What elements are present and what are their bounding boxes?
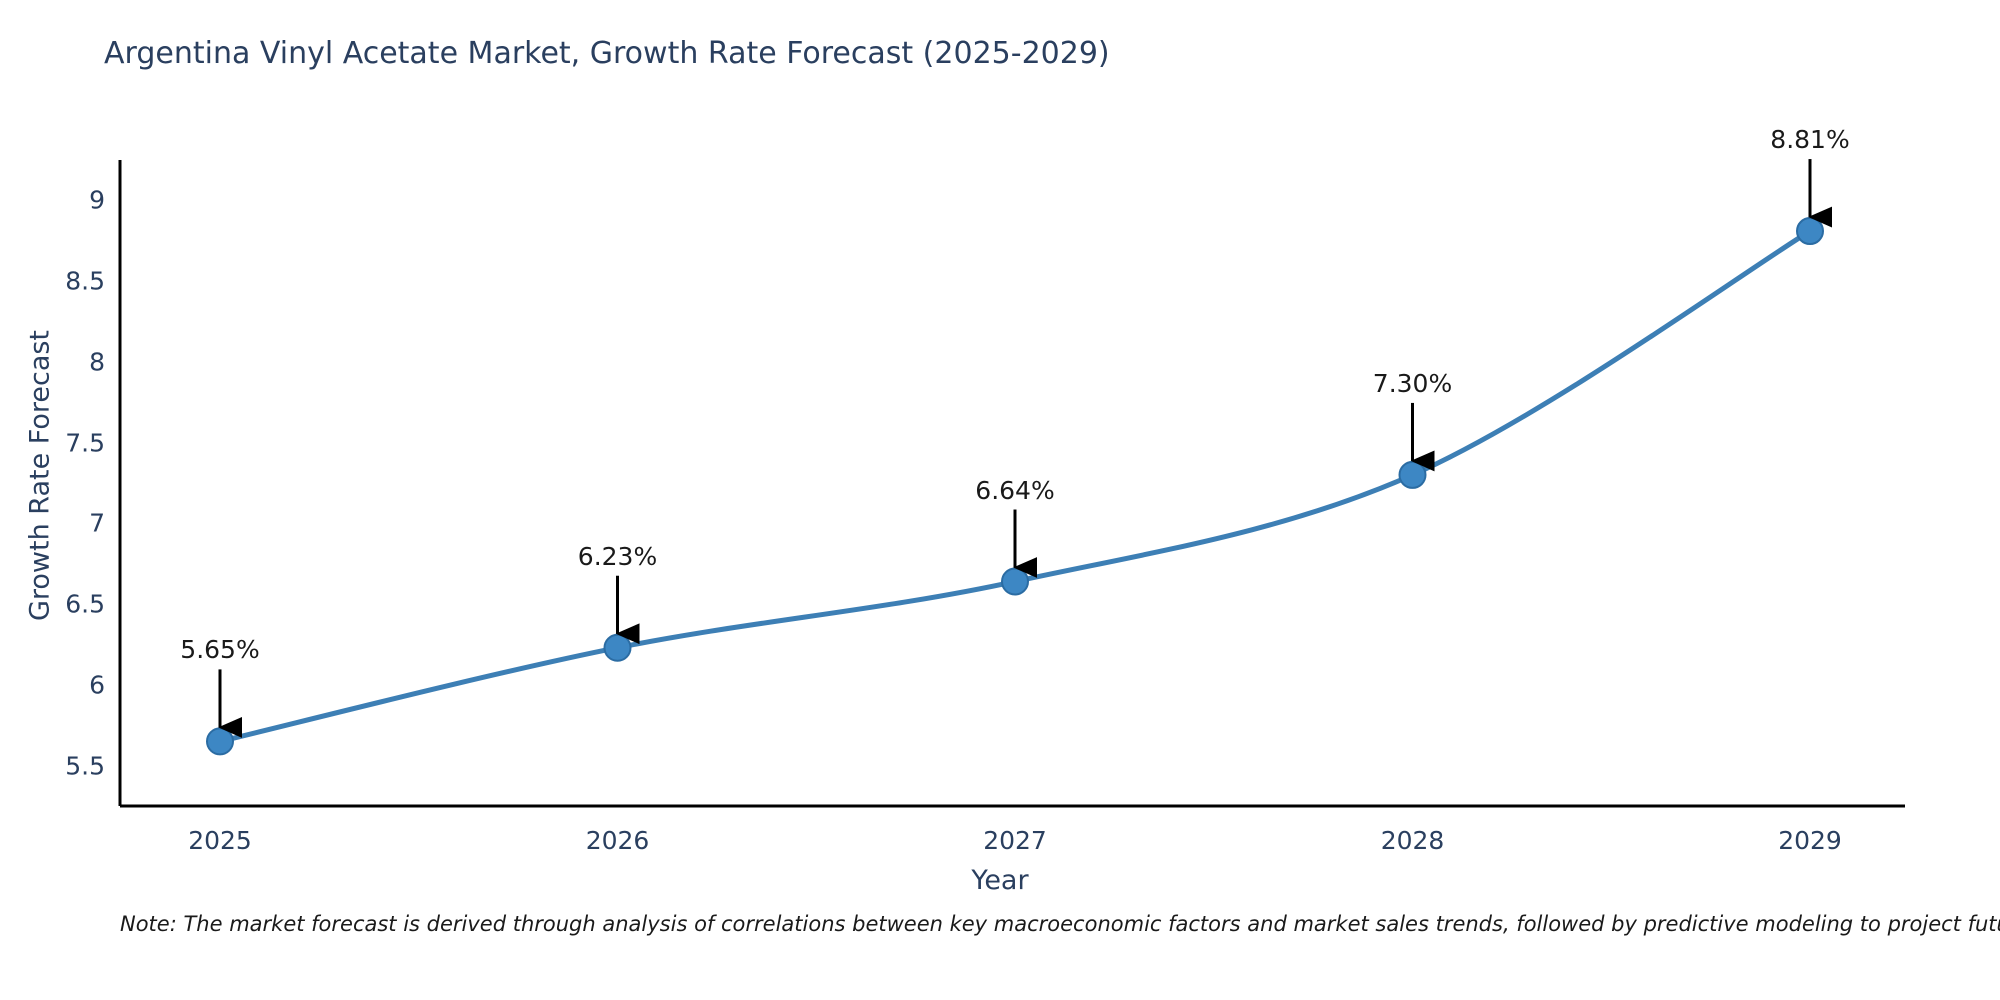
y-tick-label: 8 <box>40 347 105 376</box>
data-point-marker[interactable] <box>207 728 233 754</box>
data-point-label: 6.23% <box>578 542 657 571</box>
data-point-label: 6.64% <box>975 476 1054 505</box>
data-point-label: 5.65% <box>180 635 259 664</box>
y-tick-label: 5.5 <box>40 751 105 780</box>
chart-container: Argentina Vinyl Acetate Market, Growth R… <box>0 0 2000 1000</box>
y-tick-label: 7 <box>40 509 105 538</box>
y-tick-label: 9 <box>40 186 105 215</box>
y-tick-label: 7.5 <box>40 428 105 457</box>
y-tick-label: 6 <box>40 670 105 699</box>
data-point-label: 7.30% <box>1373 369 1452 398</box>
annotation-arrows <box>220 159 1810 727</box>
data-point-label: 8.81% <box>1770 125 1849 154</box>
x-tick-label: 2028 <box>1381 826 1445 855</box>
data-point-marker[interactable] <box>1797 218 1823 244</box>
data-point-marker[interactable] <box>605 635 631 661</box>
x-tick-label: 2027 <box>983 826 1047 855</box>
data-point-marker[interactable] <box>1002 569 1028 595</box>
y-tick-label: 8.5 <box>40 267 105 296</box>
data-point-marker[interactable] <box>1400 462 1426 488</box>
x-tick-label: 2026 <box>586 826 650 855</box>
y-tick-label: 6.5 <box>40 590 105 619</box>
x-tick-label: 2029 <box>1778 826 1842 855</box>
x-tick-label: 2025 <box>188 826 252 855</box>
footer-note: Note: The market forecast is derived thr… <box>120 912 2000 936</box>
